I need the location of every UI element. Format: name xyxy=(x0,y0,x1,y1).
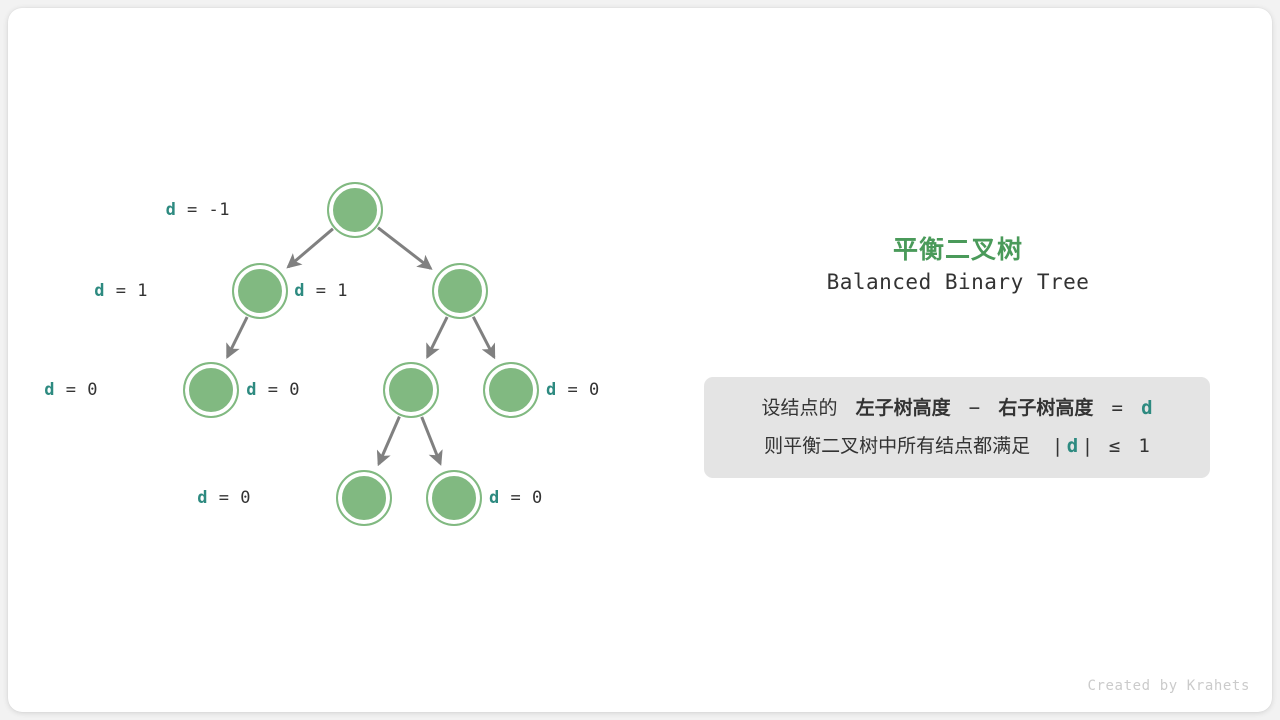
node-balance-label: d = 0 xyxy=(546,380,600,400)
tree-edge xyxy=(288,229,333,267)
definition-line-1: 设结点的 左子树高度 − 右子树高度 = d xyxy=(704,389,1210,427)
node-balance-label: d = 0 xyxy=(489,488,543,508)
slide-card: d = -1d = 1d = 1d = 0d = 0d = 0d = 0d = … xyxy=(8,8,1272,712)
tree-edge xyxy=(427,317,447,357)
variable-d-line1: d xyxy=(1141,397,1152,419)
term-right-subtree-height: 右子树高度 xyxy=(998,397,1093,419)
node-label-value: = 0 xyxy=(257,380,300,400)
bound-value: 1 xyxy=(1138,435,1149,457)
panel-title-en: Balanced Binary Tree xyxy=(698,270,1218,294)
tree-node[interactable] xyxy=(336,470,392,526)
tree-edge xyxy=(473,317,494,357)
tree-node[interactable] xyxy=(432,263,488,319)
less-equal-operator: ≤ xyxy=(1109,435,1120,457)
tree-edges-layer xyxy=(8,8,688,712)
tree-edge xyxy=(379,417,400,464)
node-label-value: = 1 xyxy=(305,281,348,301)
variable-d-line2: d xyxy=(1067,435,1078,457)
info-panel: 平衡二叉树 Balanced Binary Tree 设结点的 左子树高度 − … xyxy=(698,8,1278,712)
abs-bar-close: | xyxy=(1084,435,1090,457)
tree-edge xyxy=(378,228,431,269)
tree-node[interactable] xyxy=(483,362,539,418)
definition-line-2: 则平衡二叉树中所有结点都满足 | d | ≤ 1 xyxy=(704,427,1210,465)
node-label-variable: d xyxy=(197,488,208,508)
node-balance-label: d = 0 xyxy=(8,488,251,508)
equals-operator: = xyxy=(1112,397,1123,419)
node-balance-label: d = 0 xyxy=(8,380,300,400)
node-label-value: = -1 xyxy=(176,200,230,220)
node-label-variable: d xyxy=(166,200,177,220)
definition-box: 设结点的 左子树高度 − 右子树高度 = d 则平衡二叉树中所有结点都满足 xyxy=(704,377,1210,478)
node-label-value: = 0 xyxy=(208,488,251,508)
tree-node[interactable] xyxy=(327,182,383,238)
panel-title-zh: 平衡二叉树 xyxy=(698,230,1218,266)
tree-node[interactable] xyxy=(426,470,482,526)
node-balance-label: d = 1 xyxy=(8,281,348,301)
node-label-value: = 0 xyxy=(557,380,600,400)
node-balance-label: d = -1 xyxy=(8,200,230,220)
minus-operator: − xyxy=(969,397,980,419)
tree-node[interactable] xyxy=(383,362,439,418)
tree-edge xyxy=(422,417,441,464)
canvas-background: d = -1d = 1d = 1d = 0d = 0d = 0d = 0d = … xyxy=(0,0,1280,720)
node-label-variable: d xyxy=(546,380,557,400)
definition-prefix-2: 则平衡二叉树中所有结点都满足 xyxy=(764,435,1030,457)
definition-prefix-1: 设结点的 xyxy=(761,397,837,419)
node-label-variable: d xyxy=(489,488,500,508)
node-label-value: = 0 xyxy=(500,488,543,508)
abs-bar-open: | xyxy=(1054,435,1060,457)
node-label-variable: d xyxy=(294,281,305,301)
node-label-variable: d xyxy=(246,380,257,400)
binary-tree-diagram: d = -1d = 1d = 1d = 0d = 0d = 0d = 0d = … xyxy=(8,8,688,712)
credit-text: Created by Krahets xyxy=(1087,678,1250,694)
tree-edge xyxy=(227,317,247,357)
term-left-subtree-height: 左子树高度 xyxy=(856,397,951,419)
